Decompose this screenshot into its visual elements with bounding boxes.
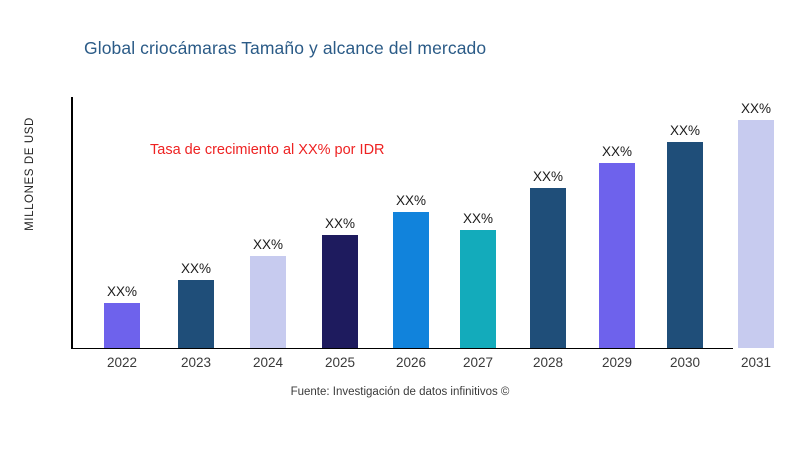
bar-value-label: XX% <box>325 216 355 231</box>
bar-value-label: XX% <box>741 101 771 116</box>
bar-group[interactable]: XX% <box>738 120 774 348</box>
bar-group[interactable]: XX% <box>667 142 703 348</box>
bar-value-label: XX% <box>533 169 563 184</box>
x-axis-tick-label: 2029 <box>587 355 647 370</box>
bar[interactable] <box>322 235 358 348</box>
x-axis-tick-label: 2022 <box>92 355 152 370</box>
source-note: Fuente: Investigación de datos infinitiv… <box>0 386 800 398</box>
x-axis-tick-label: 2031 <box>726 355 786 370</box>
x-axis-tick-label: 2030 <box>655 355 715 370</box>
bar-group[interactable]: XX% <box>530 188 566 348</box>
bar-group[interactable]: XX% <box>322 235 358 348</box>
x-axis-tick-label: 2024 <box>238 355 298 370</box>
plot-area: XX%XX%XX%XX%XX%XX%XX%XX%XX%XX%2022202320… <box>0 0 800 450</box>
x-axis-tick-label: 2028 <box>518 355 578 370</box>
bar-group[interactable]: XX% <box>393 212 429 348</box>
bar-value-label: XX% <box>253 237 283 252</box>
bar-group[interactable]: XX% <box>178 280 214 348</box>
bar[interactable] <box>104 303 140 348</box>
bar[interactable] <box>667 142 703 348</box>
bar-group[interactable]: XX% <box>460 230 496 348</box>
bar-value-label: XX% <box>396 193 426 208</box>
bar[interactable] <box>178 280 214 348</box>
bar-value-label: XX% <box>602 144 632 159</box>
x-axis-tick-label: 2027 <box>448 355 508 370</box>
bar-group[interactable]: XX% <box>104 303 140 348</box>
bar-value-label: XX% <box>670 123 700 138</box>
bar-value-label: XX% <box>463 211 493 226</box>
bar[interactable] <box>599 163 635 348</box>
bar-group[interactable]: XX% <box>250 256 286 348</box>
bar[interactable] <box>460 230 496 348</box>
growth-rate-annotation: Tasa de crecimiento al XX% por IDR <box>150 142 385 158</box>
bar[interactable] <box>530 188 566 348</box>
bar-group[interactable]: XX% <box>599 163 635 348</box>
bar-chart: Global criocámaras Tamaño y alcance del … <box>0 0 800 450</box>
bar-value-label: XX% <box>181 261 211 276</box>
bar[interactable] <box>250 256 286 348</box>
x-axis-tick-label: 2023 <box>166 355 226 370</box>
x-axis-tick-label: 2025 <box>310 355 370 370</box>
bar-value-label: XX% <box>107 284 137 299</box>
x-axis-tick-label: 2026 <box>381 355 441 370</box>
bar[interactable] <box>738 120 774 348</box>
bar[interactable] <box>393 212 429 348</box>
